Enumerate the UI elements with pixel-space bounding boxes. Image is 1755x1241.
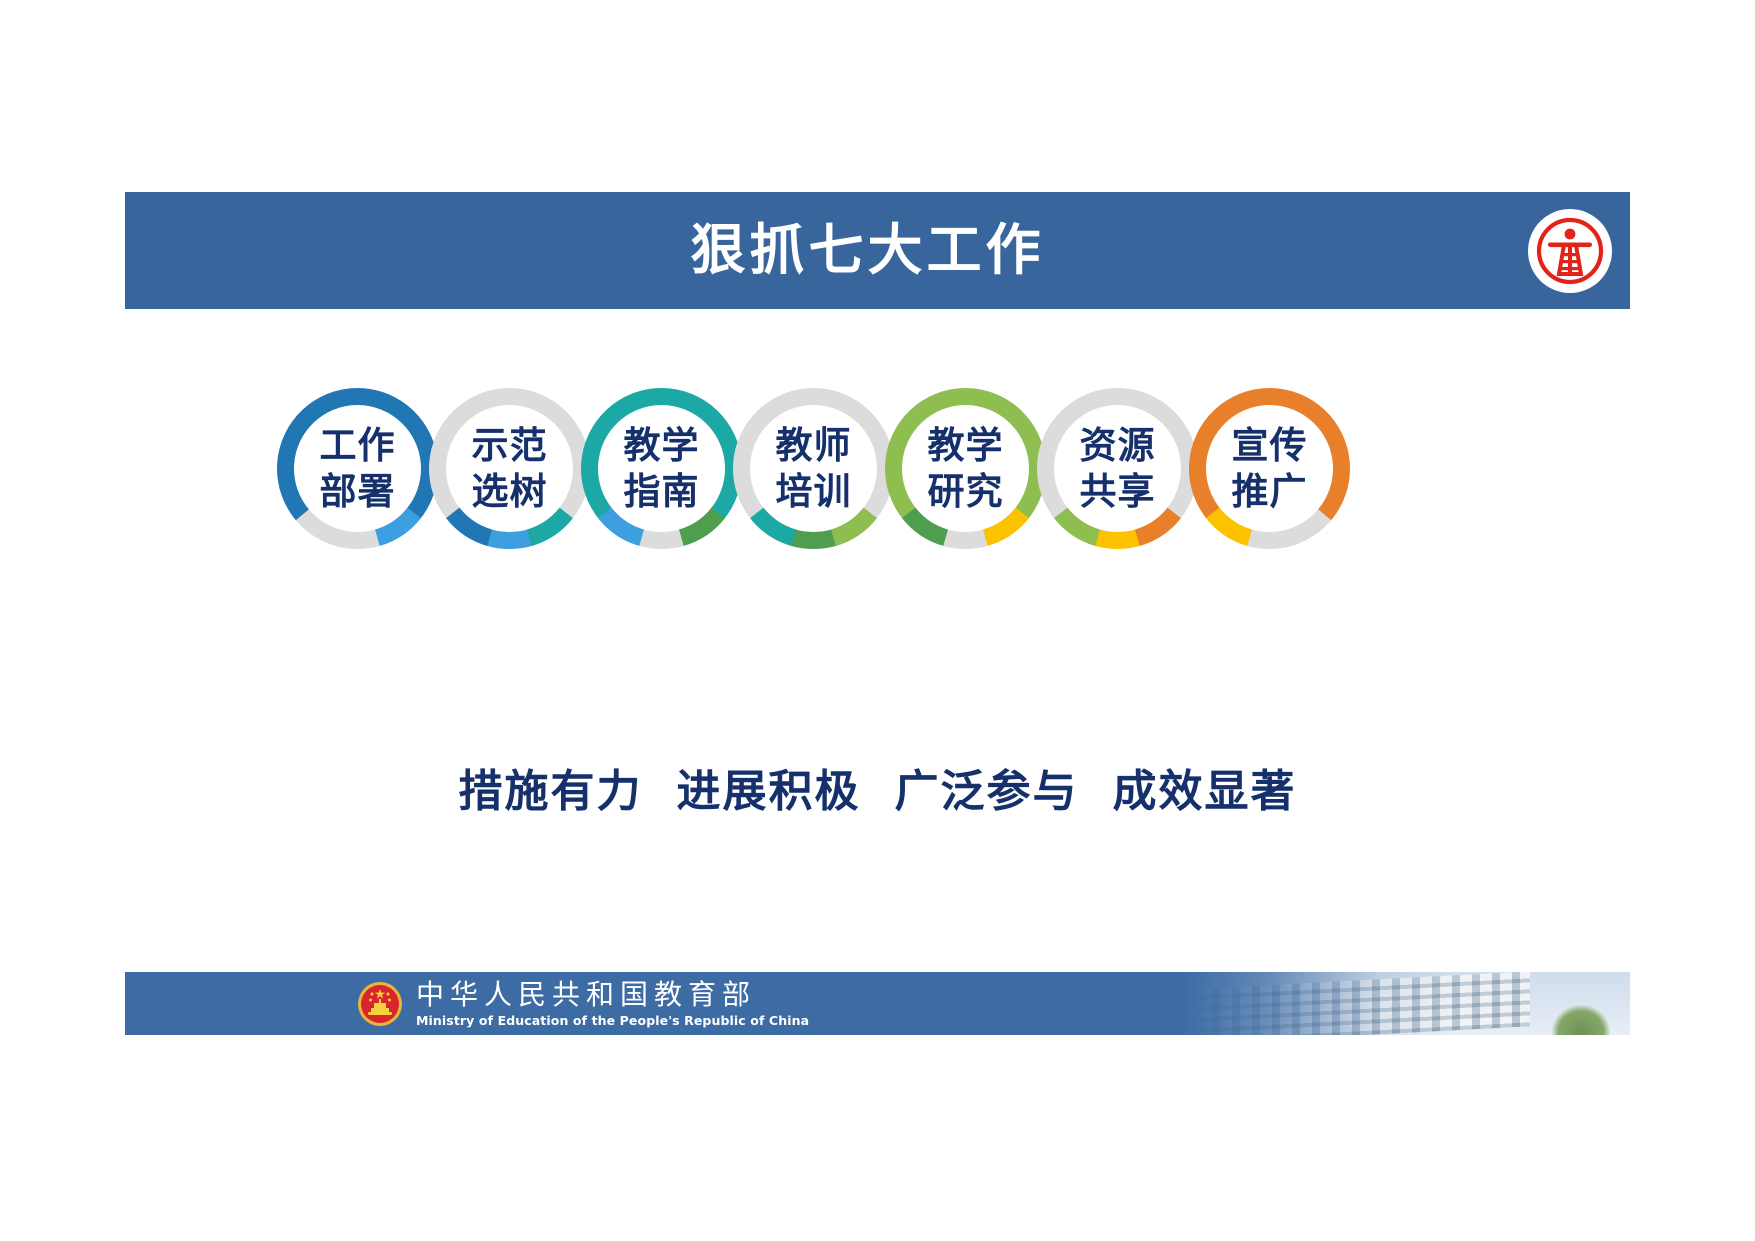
- chain-node-7[interactable]: 宣传推广: [1177, 376, 1362, 561]
- footer-ministry-name-cn: 中华人民共和国教育部: [416, 979, 809, 1010]
- process-chain: 工作部署示范选树教学指南教师培训教学研究资源共享宣传推广: [265, 376, 1362, 561]
- tagline-part-2: 进展积极: [677, 766, 861, 817]
- red-tower-emblem-icon: [1528, 209, 1612, 293]
- china-national-emblem-icon: [357, 981, 403, 1027]
- tagline-part-1: 措施有力: [459, 766, 643, 817]
- ministry-building-photo: [1110, 972, 1630, 1035]
- tagline-part-4: 成效显著: [1113, 766, 1297, 817]
- tagline: 措施有力进展积极广泛参与成效显著: [0, 755, 1755, 819]
- title-banner: 狠抓七大工作: [125, 192, 1630, 309]
- slide-canvas: 狠抓七大工作 工作部署示范选树教学指南教师培训教学研究资源共享宣传推广 措施有力…: [0, 0, 1755, 1241]
- tagline-part-3: 广泛参与: [895, 766, 1079, 817]
- chain-node-ring-7: [1177, 376, 1362, 561]
- page-title: 狠抓七大工作: [690, 223, 1044, 278]
- footer-ministry-name-en: Ministry of Education of the People's Re…: [416, 1013, 809, 1028]
- footer-bar: 中华人民共和国教育部 Ministry of Education of the …: [125, 972, 1630, 1035]
- footer-brand: 中华人民共和国教育部 Ministry of Education of the …: [357, 972, 809, 1035]
